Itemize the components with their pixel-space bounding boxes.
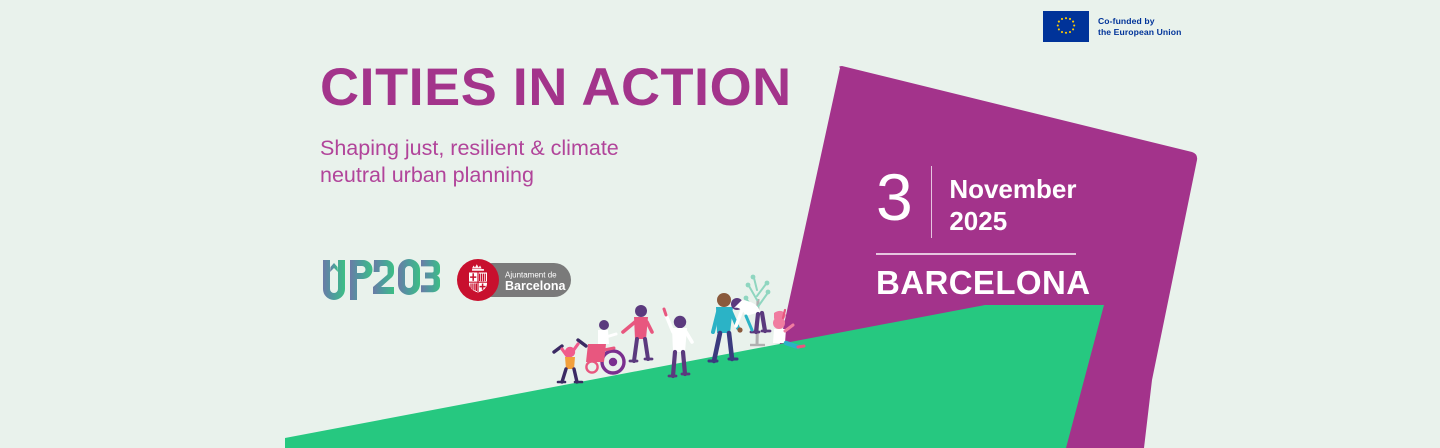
eu-funding-line2: the European Union — [1098, 27, 1181, 38]
person-in-wheelchair-figure — [586, 320, 624, 373]
up2030-logo — [321, 258, 441, 302]
date-divider — [931, 166, 933, 238]
page-title: CITIES IN ACTION — [320, 61, 792, 114]
event-city: BARCELONA — [876, 266, 1090, 299]
event-day: 3 — [876, 166, 931, 229]
person-pushing-wheelchair-figure — [623, 305, 652, 361]
eu-stars-circle — [1043, 11, 1089, 42]
eu-flag-icon — [1043, 11, 1089, 42]
ajuntament-de-barcelona-logo: Ajuntament de Barcelona — [457, 259, 571, 301]
event-date-row: 3 November 2025 — [876, 166, 1090, 238]
subtitle-line1: Shaping just, resilient & climate — [320, 135, 782, 162]
person-planting-tree-figure — [731, 298, 770, 332]
page-subtitle: Shaping just, resilient & climate neutra… — [320, 135, 782, 190]
up-arrow-icon — [330, 263, 338, 282]
event-year: 2025 — [949, 206, 1076, 238]
eu-funding-badge: Co-funded by the European Union — [1043, 11, 1181, 42]
city-rule-divider — [876, 253, 1076, 255]
person-waving-figure — [664, 309, 692, 376]
person-seated-figure — [773, 310, 804, 347]
ajuntament-line2: Barcelona — [505, 279, 566, 293]
event-month: November — [949, 174, 1076, 206]
event-month-year: November 2025 — [949, 166, 1076, 237]
event-banner: Co-funded by the European Union CITIES I… — [0, 0, 1440, 448]
headline-block: CITIES IN ACTION Shaping just, resilient… — [320, 61, 782, 190]
eu-funding-line1: Co-funded by — [1098, 16, 1181, 27]
event-date-location-block: 3 November 2025 BARCELONA — [876, 166, 1090, 299]
eu-funding-text: Co-funded by the European Union — [1098, 16, 1181, 38]
subtitle-line2: neutral urban planning — [320, 162, 782, 189]
child-arms-raised-figure — [554, 340, 586, 382]
logo-strip: Ajuntament de Barcelona — [321, 258, 571, 302]
